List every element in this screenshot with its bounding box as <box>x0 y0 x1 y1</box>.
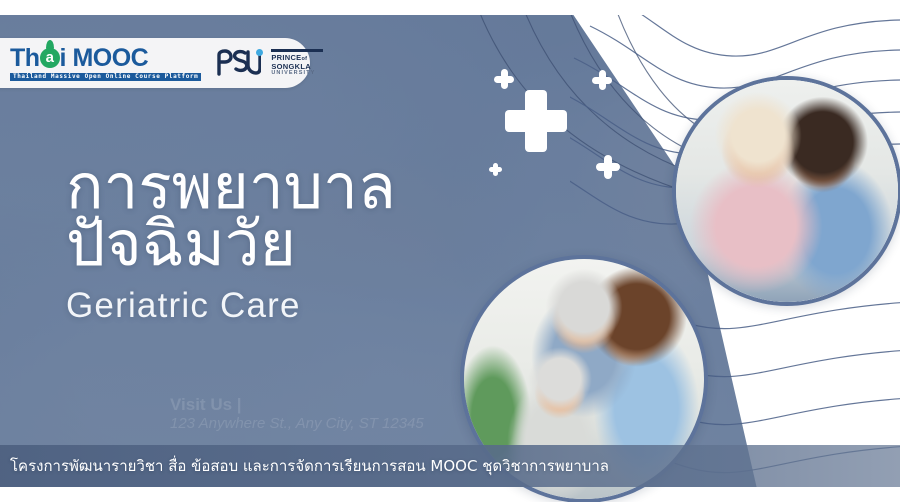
psu-monogram-icon <box>215 48 261 78</box>
thai-mooc-wordmark: Th a i MOOC <box>10 45 201 71</box>
thai-mooc-word-part2: i MOOC <box>60 46 149 71</box>
psu-monogram-svg <box>215 48 261 78</box>
photo-elderly-woman-with-nurse-image <box>676 80 898 302</box>
cross-small-1-icon <box>494 69 514 89</box>
headline-block: การพยาบาล ปัจฉิมวัย Geriatric Care <box>66 158 396 326</box>
top-white-strip <box>0 0 900 15</box>
photo-elderly-woman-with-nurse <box>672 76 900 306</box>
psu-line-3: UNIVERSITY <box>271 71 323 77</box>
psu-logo[interactable]: PRINCEof SONGKLA UNIVERSITY <box>215 48 323 78</box>
headline-english: Geriatric Care <box>66 286 396 326</box>
watermark-line-1: Visit Us | <box>170 395 424 415</box>
thai-mooc-tagline: Thailand Massive Open Online Course Plat… <box>10 73 201 81</box>
logo-bar: Th a i MOOC Thailand Massive Open Online… <box>0 38 310 88</box>
bottom-white-strip <box>0 487 900 502</box>
psu-prince-text: PRINCE <box>271 53 301 62</box>
cross-small-3-icon <box>596 155 620 179</box>
psu-dot-icon <box>256 49 263 56</box>
caption-text: โครงการพัฒนารายวิชา สื่อ ข้อสอบ และการจั… <box>0 454 609 478</box>
cross-small-2-icon <box>592 70 612 90</box>
caption-band: โครงการพัฒนารายวิชา สื่อ ข้อสอบ และการจั… <box>0 445 900 487</box>
course-banner: การพยาบาล ปัจฉิมวัย Geriatric Care Visit… <box>0 0 900 502</box>
thai-mooc-logo[interactable]: Th a i MOOC Thailand Massive Open Online… <box>10 45 201 81</box>
psu-rule-divider <box>271 49 323 52</box>
psu-wordmark: PRINCEof SONGKLA UNIVERSITY <box>271 49 323 77</box>
cross-large-icon <box>505 90 567 152</box>
headline-thai-line-2: ปัจฉิมวัย <box>66 215 396 272</box>
thai-mooc-word-part1: Th <box>10 46 40 71</box>
cross-tiny-1-icon <box>489 163 502 176</box>
background-watermark: Visit Us | 123 Anywhere St., Any City, S… <box>170 395 424 432</box>
thai-mooc-letter-a: a <box>40 48 60 68</box>
thai-mooc-leaf-icon: a <box>40 45 60 71</box>
watermark-line-2: 123 Anywhere St., Any City, ST 12345 <box>170 415 424 432</box>
